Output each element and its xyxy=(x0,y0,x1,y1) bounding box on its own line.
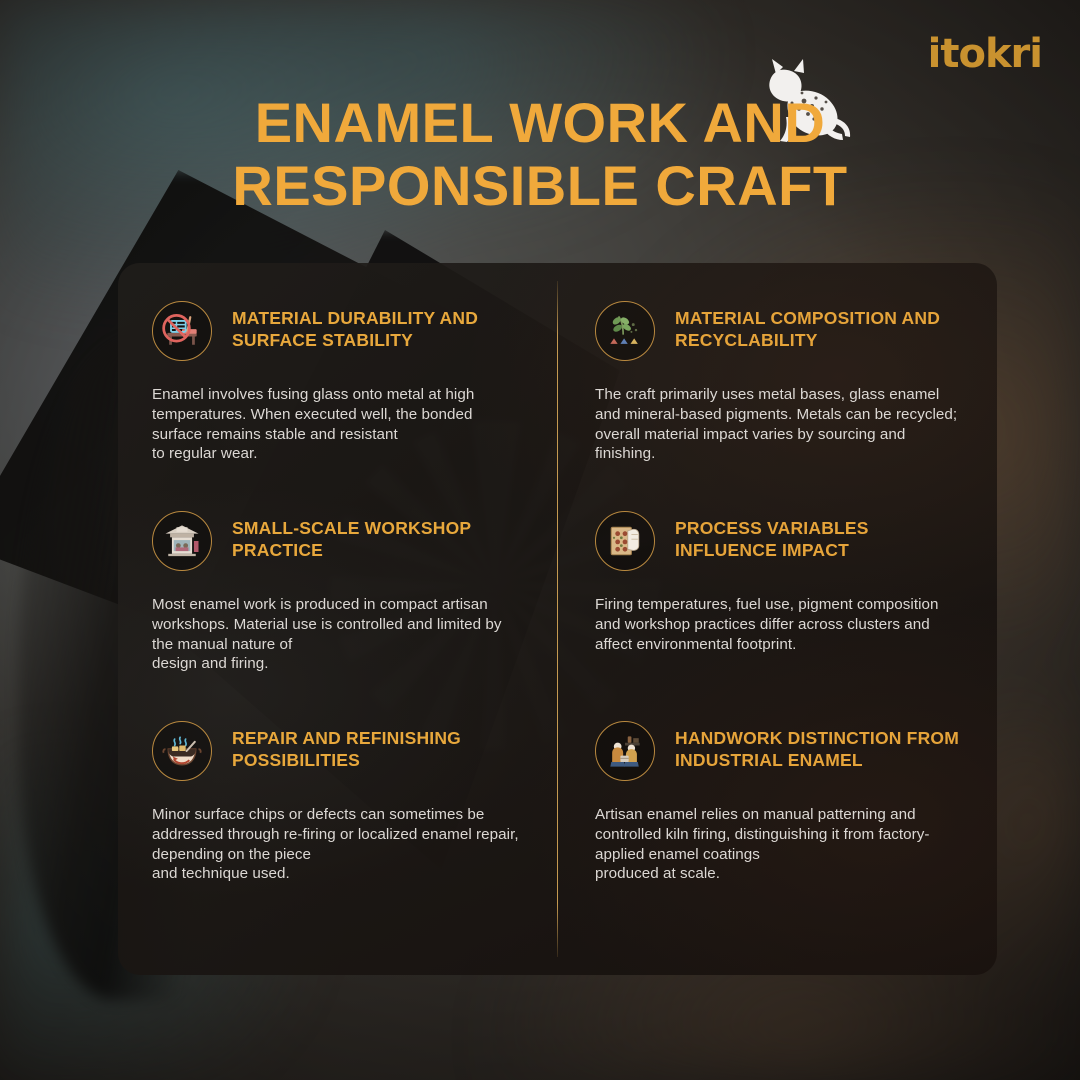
feature-header: MATERIAL DURABILITY AND SURFACE STABILIT… xyxy=(152,301,523,361)
feature-item-1: MATERIAL DURABILITY AND SURFACE STABILIT… xyxy=(118,263,557,473)
feature-title: PROCESS VARIABLES INFLUENCE IMPACT xyxy=(675,511,963,561)
workshop-building-icon xyxy=(152,511,212,571)
feature-title: HANDWORK DISTINCTION FROM INDUSTRIAL ENA… xyxy=(675,721,963,771)
feature-grid: MATERIAL DURABILITY AND SURFACE STABILIT… xyxy=(118,263,997,975)
plant-and-pigments-icon xyxy=(595,301,655,361)
feature-item-4: PROCESS VARIABLES INFLUENCE IMPACT Firin… xyxy=(557,473,997,683)
brand-logo[interactable]: itokri xyxy=(928,34,1042,74)
feature-item-5: REPAIR AND REFINISHING POSSIBILITIES Min… xyxy=(118,683,557,975)
feature-header: PROCESS VARIABLES INFLUENCE IMPACT xyxy=(595,511,963,571)
feature-header: SMALL-SCALE WORKSHOP PRACTICE xyxy=(152,511,523,571)
page-title: ENAMEL WORK AND RESPONSIBLE CRAFT xyxy=(180,92,900,217)
infographic-canvas: itokri ENAMEL WORK AND RESPONSIBLE CRAFT xyxy=(0,0,1080,1080)
feature-body: Most enamel work is produced in compact … xyxy=(152,595,523,674)
block-print-hand-icon xyxy=(595,511,655,571)
brand-logo-text: itokri xyxy=(928,34,1042,74)
no-chemicals-workbench-icon xyxy=(152,301,212,361)
feature-title: MATERIAL DURABILITY AND SURFACE STABILIT… xyxy=(232,301,523,351)
feature-item-3: SMALL-SCALE WORKSHOP PRACTICE Most ename… xyxy=(118,473,557,683)
feature-header: HANDWORK DISTINCTION FROM INDUSTRIAL ENA… xyxy=(595,721,963,781)
feature-title: MATERIAL COMPOSITION AND RECYCLABILITY xyxy=(675,301,963,351)
feature-item-2: MATERIAL COMPOSITION AND RECYCLABILITY T… xyxy=(557,263,997,473)
feature-body: Minor surface chips or defects can somet… xyxy=(152,805,523,884)
feature-body: Enamel involves fusing glass onto metal … xyxy=(152,385,523,464)
feature-title: REPAIR AND REFINISHING POSSIBILITIES xyxy=(232,721,523,771)
feature-title: SMALL-SCALE WORKSHOP PRACTICE xyxy=(232,511,523,561)
page-title-wrapper: ENAMEL WORK AND RESPONSIBLE CRAFT xyxy=(0,92,1080,217)
feature-item-6: HANDWORK DISTINCTION FROM INDUSTRIAL ENA… xyxy=(557,683,997,975)
feature-body: The craft primarily uses metal bases, gl… xyxy=(595,385,963,464)
feature-body: Artisan enamel relies on manual patterni… xyxy=(595,805,963,884)
feature-body: Firing temperatures, fuel use, pigment c… xyxy=(595,595,963,654)
content-panel: MATERIAL DURABILITY AND SURFACE STABILIT… xyxy=(118,263,997,975)
steaming-pot-recycle-icon xyxy=(152,721,212,781)
feature-header: REPAIR AND REFINISHING POSSIBILITIES xyxy=(152,721,523,781)
feature-header: MATERIAL COMPOSITION AND RECYCLABILITY xyxy=(595,301,963,361)
two-artisans-icon xyxy=(595,721,655,781)
